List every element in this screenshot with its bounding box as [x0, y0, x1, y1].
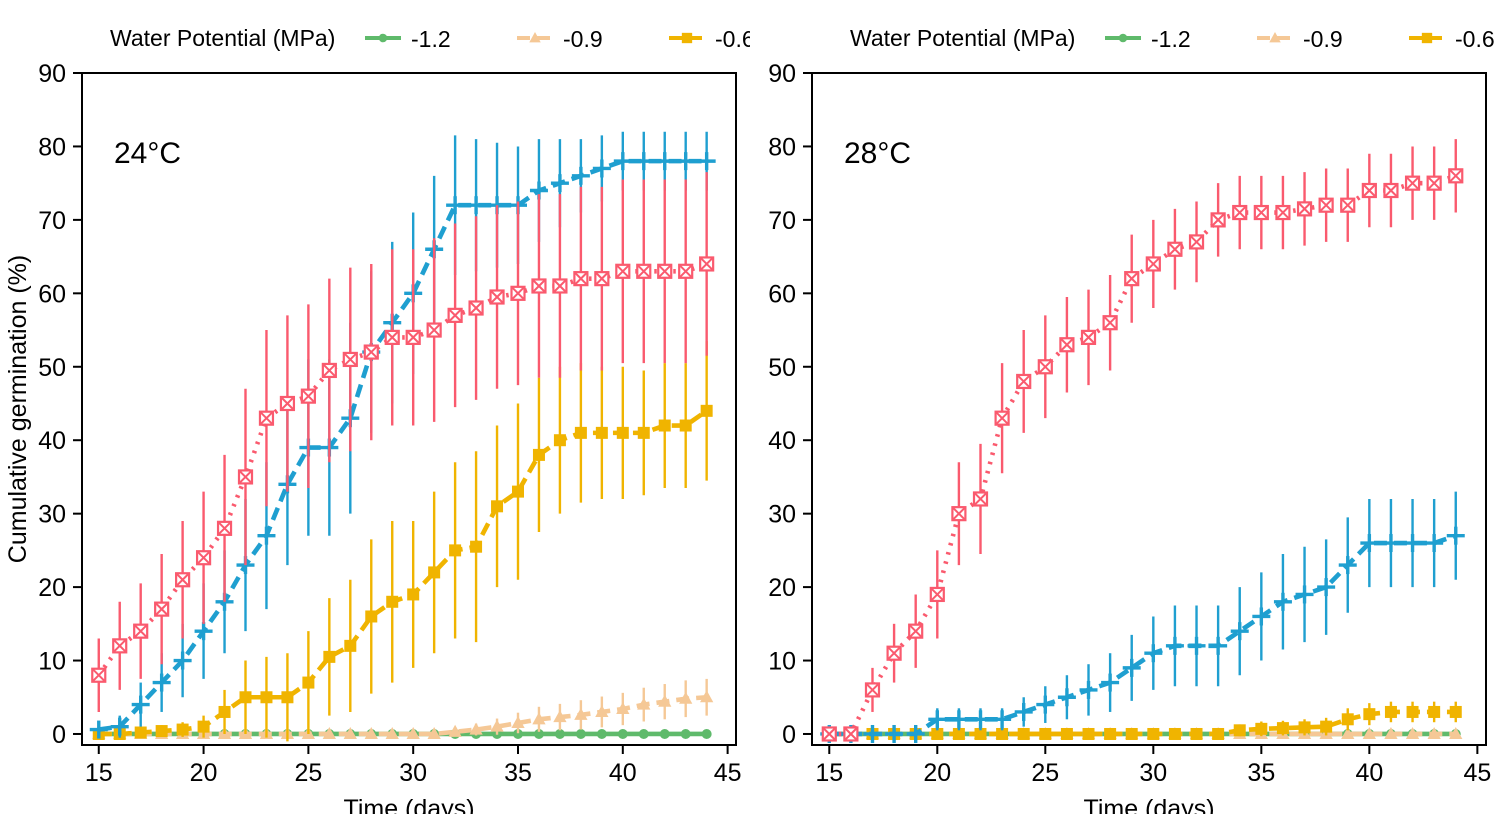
- error-bars-0: [99, 172, 707, 712]
- marker-square: [659, 420, 671, 432]
- marker-square: [1299, 721, 1311, 733]
- marker-square: [344, 640, 356, 652]
- marker-circle: [639, 729, 649, 739]
- legend-entry--0.9[interactable]: -0.9: [1257, 26, 1343, 52]
- series--0.6: [93, 341, 713, 741]
- legend-entry-label: -0.6: [1455, 26, 1495, 52]
- chart-svg-left: Water Potential (MPa)-1.2-0.9-0.6-0.3001…: [0, 0, 750, 814]
- legend-right: Water Potential (MPa)-1.2-0.9-0.6-0.30: [850, 25, 1500, 52]
- x-tick-label: 45: [1463, 759, 1491, 787]
- marker-square: [638, 427, 650, 439]
- marker-square: [1385, 706, 1397, 718]
- series-line-0: [99, 264, 707, 675]
- marker-square: [1018, 728, 1030, 740]
- marker-square: [470, 541, 482, 553]
- x-tick-label: 25: [294, 759, 322, 787]
- marker-square: [386, 596, 398, 608]
- x-tick-label: 40: [1355, 759, 1383, 787]
- series-markers-0: [823, 169, 1462, 740]
- y-tick-label: 60: [38, 280, 66, 308]
- figure-root: Water Potential (MPa)-1.2-0.9-0.6-0.3001…: [0, 0, 1500, 814]
- marker-square: [680, 420, 692, 432]
- series-line-0: [829, 176, 1455, 734]
- x-tick-label: 35: [1247, 759, 1275, 787]
- legend-entry-label: -1.2: [1151, 26, 1191, 52]
- marker-square: [512, 486, 524, 498]
- x-tick-label: 20: [923, 759, 951, 787]
- marker-square: [1342, 713, 1354, 725]
- marker-square: [1363, 708, 1375, 720]
- panel-temperature-label: 28°C: [844, 137, 911, 170]
- y-tick-label: 80: [768, 133, 796, 161]
- marker-circle: [555, 729, 565, 739]
- marker-square: [177, 724, 189, 736]
- marker-square: [260, 691, 272, 703]
- error-bars--0.3: [937, 492, 1455, 731]
- marker-square: [1428, 706, 1440, 718]
- legend-entry-label: -0.9: [1303, 26, 1343, 52]
- marker-square: [135, 727, 147, 739]
- marker-square: [240, 691, 252, 703]
- panel-temperature-label: 24°C: [114, 137, 181, 170]
- marker-square: [682, 33, 692, 43]
- marker-circle: [702, 729, 712, 739]
- marker-square: [554, 434, 566, 446]
- marker-square: [407, 588, 419, 600]
- y-tick-label: 70: [768, 207, 796, 235]
- marker-square: [219, 706, 231, 718]
- plot-frame: [812, 73, 1486, 745]
- y-tick-label: 10: [38, 648, 66, 676]
- marker-square: [1083, 728, 1095, 740]
- marker-square: [156, 725, 168, 737]
- marker-square: [491, 500, 503, 512]
- y-tick-label: 10: [768, 648, 796, 676]
- y-tick-label: 20: [768, 574, 796, 602]
- marker-square: [1422, 33, 1432, 43]
- y-tick-label: 40: [38, 427, 66, 455]
- marker-square: [617, 427, 629, 439]
- marker-square: [1277, 722, 1289, 734]
- marker-square: [575, 427, 587, 439]
- series--0.3: [820, 492, 1464, 743]
- marker-circle: [660, 729, 670, 739]
- y-tick-label: 40: [768, 427, 796, 455]
- series-line--0.6: [829, 712, 1455, 734]
- x-tick-label: 15: [815, 759, 843, 787]
- marker-square: [1255, 723, 1267, 735]
- legend-left: Water Potential (MPa)-1.2-0.9-0.6-0.30: [110, 25, 750, 52]
- marker-square: [1126, 728, 1138, 740]
- series-layer-right: [820, 139, 1464, 743]
- x-tick-label: 35: [504, 759, 532, 787]
- marker-square: [1407, 706, 1419, 718]
- marker-square: [1320, 721, 1332, 733]
- chart-svg-right: Water Potential (MPa)-1.2-0.9-0.6-0.3001…: [750, 0, 1500, 814]
- x-tick-label: 45: [714, 759, 742, 787]
- y-tick-label: 0: [52, 721, 66, 749]
- y-tick-label: 50: [768, 354, 796, 382]
- marker-square: [1169, 728, 1181, 740]
- marker-square: [1212, 728, 1224, 740]
- marker-square: [449, 544, 461, 556]
- series-markers-0: [92, 257, 713, 681]
- error-bars--0.9: [455, 679, 707, 736]
- marker-square: [1104, 728, 1116, 740]
- marker-square: [1234, 724, 1246, 736]
- y-tick-label: 50: [38, 354, 66, 382]
- marker-square: [533, 449, 545, 461]
- legend-entry--0.6[interactable]: -0.6: [669, 26, 750, 52]
- series-line--0.3: [99, 161, 707, 729]
- marker-circle: [379, 34, 388, 43]
- marker-circle: [681, 729, 691, 739]
- y-tick-label: 90: [38, 60, 66, 88]
- series-layer-left: [90, 132, 716, 742]
- legend-entry-label: -0.6: [715, 26, 750, 52]
- marker-square: [428, 566, 440, 578]
- x-tick-label: 20: [190, 759, 218, 787]
- x-axis-title: Time (days): [343, 795, 474, 814]
- series-0: [823, 139, 1462, 740]
- x-tick-label: 30: [399, 759, 427, 787]
- legend-entry-label: -0.9: [563, 26, 603, 52]
- series-0: [92, 172, 713, 712]
- marker-square: [1061, 728, 1073, 740]
- y-tick-label: 90: [768, 60, 796, 88]
- marker-circle: [597, 729, 607, 739]
- marker-square: [323, 651, 335, 663]
- legend-title: Water Potential (MPa): [110, 25, 335, 51]
- plot-frame: [82, 73, 736, 745]
- x-tick-label: 25: [1031, 759, 1059, 787]
- legend-entry-label: -1.2: [411, 26, 451, 52]
- legend-entry--1.2[interactable]: -1.2: [1105, 26, 1191, 52]
- marker-square: [198, 721, 210, 733]
- chart-panel-24c: Water Potential (MPa)-1.2-0.9-0.6-0.3001…: [0, 0, 750, 814]
- marker-square: [1147, 728, 1159, 740]
- y-tick-label: 20: [38, 574, 66, 602]
- y-axis-title: Cumulative germination (%): [4, 255, 32, 563]
- x-tick-label: 40: [609, 759, 637, 787]
- marker-square: [596, 427, 608, 439]
- y-tick-label: 60: [768, 280, 796, 308]
- marker-square: [1191, 728, 1203, 740]
- marker-square: [365, 610, 377, 622]
- marker-square: [281, 691, 293, 703]
- marker-circle: [1119, 34, 1128, 43]
- y-tick-label: 70: [38, 207, 66, 235]
- legend-title: Water Potential (MPa): [850, 25, 1075, 51]
- marker-circle: [576, 729, 586, 739]
- marker-square: [701, 405, 713, 417]
- legend-entry--1.2[interactable]: -1.2: [365, 26, 451, 52]
- y-tick-label: 0: [782, 721, 796, 749]
- error-bars-0: [872, 139, 1455, 712]
- x-axis-title: Time (days): [1083, 795, 1214, 814]
- y-tick-label: 80: [38, 133, 66, 161]
- legend-entry--0.9[interactable]: -0.9: [517, 26, 603, 52]
- x-tick-label: 30: [1139, 759, 1167, 787]
- legend-entry--0.6[interactable]: -0.6: [1409, 26, 1495, 52]
- y-tick-label: 30: [768, 501, 796, 529]
- y-tick-label: 30: [38, 501, 66, 529]
- marker-circle: [618, 729, 628, 739]
- x-tick-label: 15: [85, 759, 113, 787]
- chart-panel-28c: Water Potential (MPa)-1.2-0.9-0.6-0.3001…: [750, 0, 1500, 814]
- marker-square: [1039, 728, 1051, 740]
- marker-square: [302, 677, 314, 689]
- marker-square: [1450, 706, 1462, 718]
